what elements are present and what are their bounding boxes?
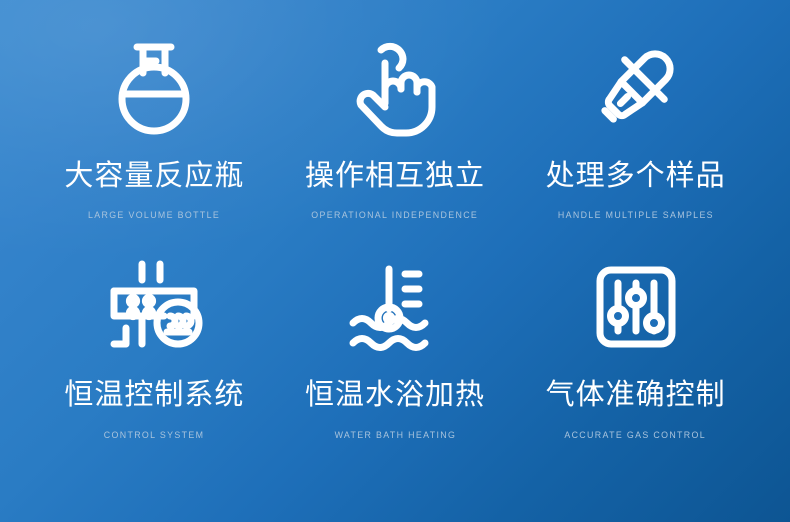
feature-title: 操作相互独立	[305, 162, 485, 191]
feature-subtitle: WATER BATH HEATING	[334, 431, 456, 441]
feature-subtitle: CONTROL SYSTEM	[104, 431, 205, 441]
feature-title: 气体准确控制	[546, 381, 726, 410]
feature-cell-accurate-gas-control: 气体准确控制 ACCURATE GAS CONTROL	[515, 257, 756, 478]
pipette-icon	[586, 36, 686, 140]
feature-cell-large-volume-bottle: 大容量反应瓶 LARGE VOLUME BOTTLE	[34, 36, 275, 257]
feature-cell-handle-multiple-samples: 处理多个样品 HANDLE MULTIPLE SAMPLES	[515, 36, 756, 257]
feature-title: 大容量反应瓶	[64, 162, 244, 191]
thermometer-water-icon	[347, 257, 443, 357]
feature-title: 恒温控制系统	[64, 381, 244, 410]
feature-grid: 大容量反应瓶 LARGE VOLUME BOTTLE 操作相互独立 OPERAT…	[0, 0, 790, 522]
round-flask-icon	[108, 36, 200, 140]
feature-cell-control-system: 恒温控制系统 CONTROL SYSTEM	[34, 257, 275, 478]
feature-cell-water-bath-heating: 恒温水浴加热 WATER BATH HEATING	[275, 257, 516, 478]
feature-subtitle: HANDLE MULTIPLE SAMPLES	[558, 211, 714, 221]
tap-hand-icon	[351, 36, 439, 140]
control-panel-heat-icon	[104, 257, 204, 357]
feature-cell-operational-independence: 操作相互独立 OPERATIONAL INDEPENDENCE	[275, 36, 516, 257]
feature-banner: 大容量反应瓶 LARGE VOLUME BOTTLE 操作相互独立 OPERAT…	[0, 0, 790, 522]
feature-subtitle: OPERATIONAL INDEPENDENCE	[312, 211, 479, 221]
slider-control-icon	[595, 257, 677, 357]
feature-title: 恒温水浴加热	[305, 381, 485, 410]
feature-subtitle: ACCURATE GAS CONTROL	[565, 431, 707, 441]
feature-subtitle: LARGE VOLUME BOTTLE	[88, 211, 220, 221]
feature-title: 处理多个样品	[546, 162, 726, 191]
